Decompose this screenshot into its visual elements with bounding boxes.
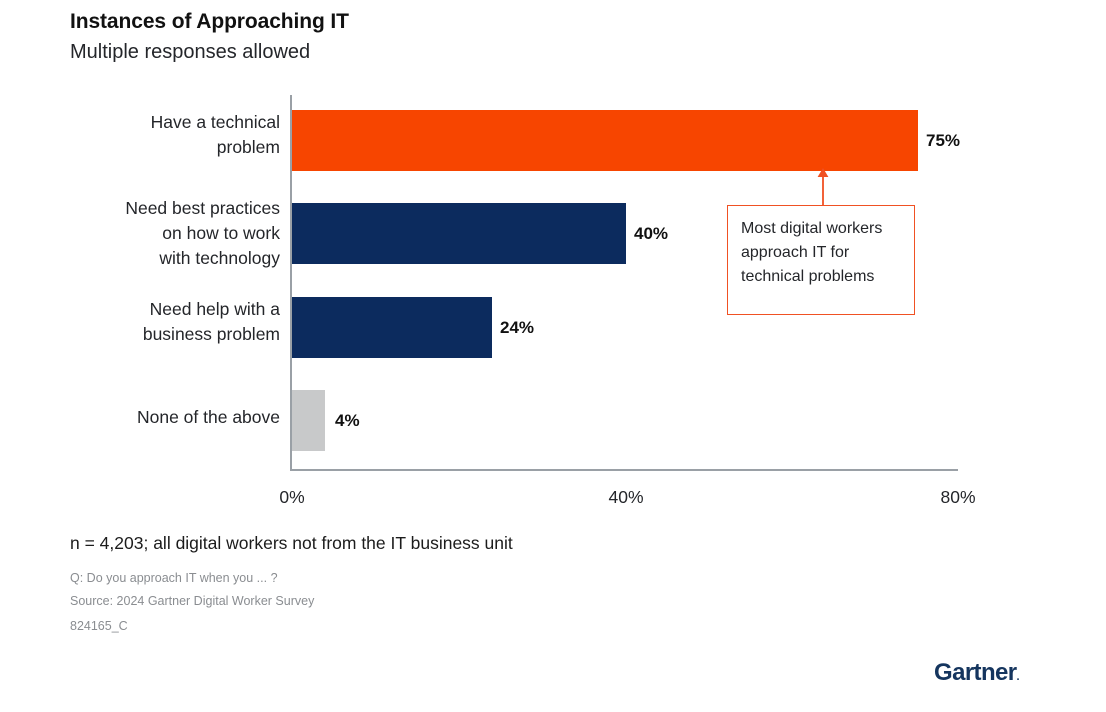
bar-none-of-the-above[interactable] — [292, 390, 325, 451]
x-tick-label-0: 0% — [279, 487, 304, 508]
category-label-line: problem — [20, 135, 280, 160]
category-label-line: business problem — [20, 322, 280, 347]
callout-arrow-icon — [815, 168, 831, 208]
category-label-need-help-business-problem: Need help with a business problem — [20, 297, 280, 347]
callout-text: Most digital workers approach IT for tec… — [741, 217, 906, 289]
category-label-line: with technology — [20, 246, 280, 271]
document-code: 824165_C — [70, 619, 128, 633]
sample-size-note: n = 4,203; all digital workers not from … — [70, 533, 513, 554]
gartner-logo: Gartner. — [934, 659, 1019, 687]
x-axis-line — [290, 469, 958, 471]
x-tick-label-40: 40% — [608, 487, 643, 508]
bar-value-have-a-technical-problem: 75% — [926, 131, 960, 151]
category-label-line: Have a technical — [20, 110, 280, 135]
category-label-have-a-technical-problem: Have a technical problem — [20, 110, 280, 160]
x-tick-label-80: 80% — [940, 487, 975, 508]
survey-question-note: Q: Do you approach IT when you ... ? — [70, 571, 278, 585]
category-label-line: on how to work — [20, 221, 280, 246]
bar-value-none-of-the-above: 4% — [335, 411, 360, 431]
gartner-logo-text: Gartner — [934, 659, 1017, 686]
bar-have-a-technical-problem[interactable] — [292, 110, 918, 171]
category-label-line: Need best practices — [20, 196, 280, 221]
category-label-line: Need help with a — [20, 297, 280, 322]
category-label-need-best-practices: Need best practices on how to work with … — [20, 196, 280, 271]
callout-box: Most digital workers approach IT for tec… — [727, 205, 915, 315]
bar-value-need-help-business-problem: 24% — [500, 318, 534, 338]
bar-need-help-business-problem[interactable] — [292, 297, 492, 358]
category-label-none-of-the-above: None of the above — [20, 405, 280, 430]
gartner-logo-mark: . — [1017, 671, 1019, 683]
bar-value-need-best-practices: 40% — [634, 224, 668, 244]
source-note: Source: 2024 Gartner Digital Worker Surv… — [70, 594, 314, 608]
bar-need-best-practices[interactable] — [292, 203, 626, 264]
category-label-line: None of the above — [20, 405, 280, 430]
